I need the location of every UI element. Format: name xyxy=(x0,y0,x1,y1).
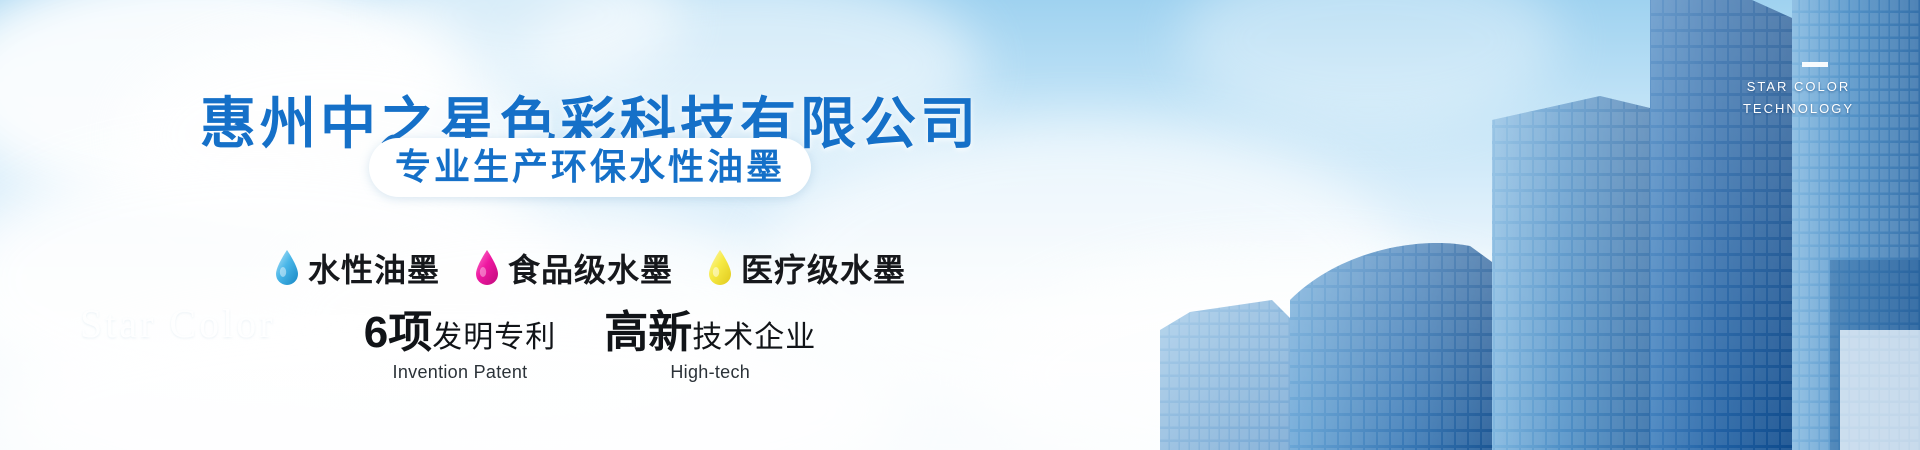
badge-invention-patent: 6项发明专利 Invention Patent xyxy=(364,310,556,383)
feature-label: 医疗级水墨 xyxy=(741,245,906,291)
building-main xyxy=(1492,96,1650,450)
badge-high-tech-enterprise: 高新技术企业 High-tech xyxy=(604,310,816,383)
badge-highlight: 6项 xyxy=(364,308,432,357)
feature-label: 水性油墨 xyxy=(308,245,440,291)
building-podium xyxy=(1840,330,1920,450)
badge-chinese-text: 高新技术企业 xyxy=(604,310,816,356)
building-brand-line2: TECHNOLOGY xyxy=(1743,98,1854,120)
feature-item-food-grade-ink: 食品级水墨 xyxy=(474,245,673,291)
building-brand-label: STAR COLOR TECHNOLOGY xyxy=(1743,76,1854,120)
subtitle-pill: 专业生产环保水性油墨 xyxy=(369,138,811,197)
badge-highlight: 高新 xyxy=(604,308,692,357)
feature-label: 食品级水墨 xyxy=(508,245,673,291)
badge-english-caption: Invention Patent xyxy=(364,362,556,383)
achievement-badges: 6项发明专利 Invention Patent 高新技术企业 High-tech xyxy=(0,310,1180,383)
feature-item-water-based-ink: 水性油墨 xyxy=(274,245,440,291)
building-marker-icon xyxy=(1802,62,1828,67)
water-drop-icon xyxy=(707,249,733,287)
feature-item-medical-grade-ink: 医疗级水墨 xyxy=(707,245,906,291)
badge-rest: 技术企业 xyxy=(692,321,816,354)
banner-content: 惠州中之星色彩科技有限公司 专业生产环保水性油墨 水性油墨 xyxy=(0,0,1180,450)
badge-english-caption: High-tech xyxy=(604,362,816,383)
badge-rest: 发明专利 xyxy=(432,321,556,354)
building-tallest xyxy=(1650,0,1792,450)
water-drop-icon xyxy=(274,249,300,287)
company-hero-banner: Star Color xyxy=(0,0,1920,450)
badge-chinese-text: 6项发明专利 xyxy=(364,310,556,356)
building-curved xyxy=(1290,243,1492,450)
feature-list: 水性油墨 食品级水墨 xyxy=(0,245,1180,291)
water-drop-icon xyxy=(474,249,500,287)
subtitle-pill-wrapper: 专业生产环保水性油墨 xyxy=(0,138,1180,197)
building-brand-line1: STAR COLOR xyxy=(1743,76,1854,98)
